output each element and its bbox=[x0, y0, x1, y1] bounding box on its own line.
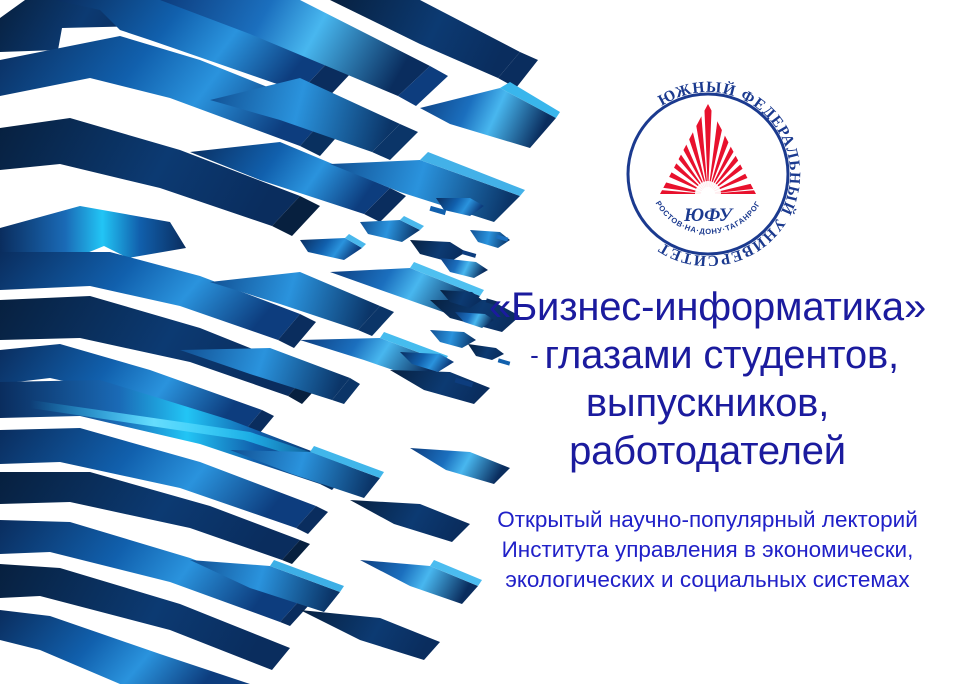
slide-text-block: «Бизнес-информатика» -глазами студентов,… bbox=[455, 283, 960, 595]
page-title: «Бизнес-информатика» -глазами студентов,… bbox=[455, 283, 960, 475]
sfedu-logo: ЮЖНЫЙ ФЕДЕРАЛЬНЫЙ УНИВЕРСИТЕТ ЮФУ РОСТОВ… bbox=[608, 74, 808, 266]
title-line-2: -глазами студентов, bbox=[455, 331, 960, 379]
title-line-2-text: глазами студентов, bbox=[545, 333, 899, 377]
presentation-slide: ЮЖНЫЙ ФЕДЕРАЛЬНЫЙ УНИВЕРСИТЕТ ЮФУ РОСТОВ… bbox=[0, 0, 977, 684]
subtitle-line-1: Открытый научно-популярный лекторий bbox=[455, 505, 960, 535]
logo-outer-text: ЮЖНЫЙ ФЕДЕРАЛЬНЫЙ УНИВЕРСИТЕТ bbox=[655, 79, 803, 266]
title-line-4: работодателей bbox=[455, 427, 960, 475]
title-lead-dash: - bbox=[530, 340, 544, 370]
subtitle-line-2: Института управления в экономически, bbox=[455, 535, 960, 565]
title-line-1: «Бизнес-информатика» bbox=[455, 283, 960, 331]
logo-abbreviation: ЮФУ bbox=[683, 205, 734, 226]
subtitle-line-3: экологических и социальных системах bbox=[455, 565, 960, 595]
title-line-3: выпускников, bbox=[455, 379, 960, 427]
subtitle: Открытый научно-популярный лекторий Инст… bbox=[455, 475, 960, 595]
